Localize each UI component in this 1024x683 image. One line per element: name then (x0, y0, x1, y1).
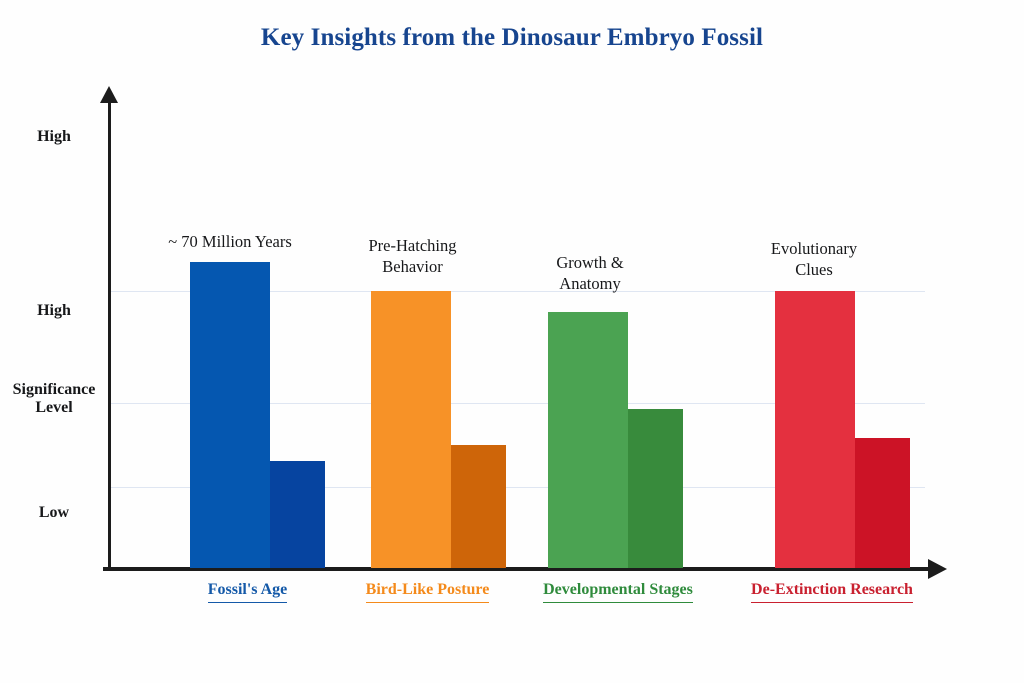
y-axis-line (108, 100, 111, 570)
x-axis-arrow-icon (928, 559, 947, 579)
bar[interactable] (190, 262, 270, 568)
x-axis-category-2[interactable]: Developmental Stages (513, 581, 723, 603)
bar[interactable] (270, 461, 325, 568)
bar[interactable] (451, 445, 506, 568)
x-axis-category-1[interactable]: Bird-Like Posture (335, 581, 520, 603)
bar[interactable] (371, 291, 451, 568)
y-axis-tick-label-1: High (4, 302, 104, 320)
x-axis-category-3[interactable]: De-Extinction Research (722, 581, 942, 603)
x-axis-category-0[interactable]: Fossil's Age (155, 581, 340, 603)
y-axis-labels: HighHighSignificance LevelLow (0, 0, 104, 683)
bar[interactable] (775, 291, 855, 568)
bar[interactable] (548, 312, 628, 568)
bar[interactable] (628, 409, 683, 568)
y-axis-tick-label-2: Significance Level (4, 381, 104, 418)
y-axis-tick-label-0: High (4, 128, 104, 146)
bar-annotation-label: Pre-Hatching Behavior (340, 236, 485, 277)
bar-annotation-label: Evolutionary Clues (740, 239, 888, 280)
page-title: Key Insights from the Dinosaur Embryo Fo… (0, 24, 1024, 52)
bar-annotation-label: ~ 70 Million Years (152, 232, 308, 253)
bar-annotation-label: Growth & Anatomy (520, 253, 660, 294)
chart-canvas: Key Insights from the Dinosaur Embryo Fo… (0, 0, 1024, 683)
category-label-text: Bird-Like Posture (366, 581, 490, 603)
category-label-text: Developmental Stages (543, 581, 693, 603)
bar[interactable] (855, 438, 910, 568)
category-label-text: Fossil's Age (208, 581, 288, 603)
category-label-text: De-Extinction Research (751, 581, 913, 603)
y-axis-tick-label-3: Low (4, 504, 104, 522)
